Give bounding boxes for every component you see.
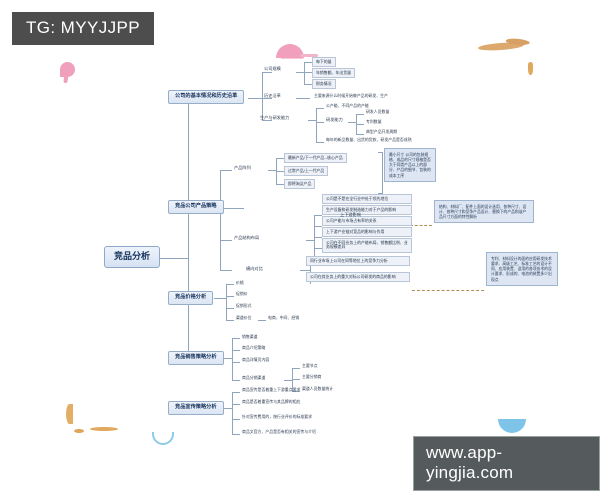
- connector: [226, 320, 234, 321]
- connector: [316, 142, 324, 143]
- leaf-node[interactable]: 渠道人员数量统计: [300, 386, 335, 392]
- connector: [232, 208, 244, 209]
- leaf-node[interactable]: 公司在不同业务上的产能布局、销售额比例、业务规模差异: [322, 238, 412, 253]
- decorative-blob-gold: [478, 41, 524, 51]
- connector: [314, 226, 322, 227]
- leaf-node[interactable]: 同行业市场上公司在同等地位上的竞争力分析: [306, 256, 410, 266]
- connector: [220, 170, 232, 171]
- connector: [226, 296, 234, 297]
- leaf-node[interactable]: 主要分销商: [300, 374, 323, 380]
- connector: [316, 108, 317, 142]
- connector: [258, 320, 266, 321]
- connector: [314, 215, 322, 216]
- connector: [356, 134, 364, 135]
- leaf-node[interactable]: 上下游产业链对竞品的影响与作用: [322, 227, 412, 237]
- leaf-node[interactable]: 商品介绍策略: [240, 345, 267, 351]
- root-node[interactable]: 竞品分析: [104, 246, 160, 268]
- leaf-node[interactable]: 即将淘汰产品: [284, 179, 315, 189]
- watermark: www.app-yingjia.com: [413, 436, 600, 491]
- leaf-node[interactable]: 生产设备和研发制造能力对于产品的影响: [322, 205, 412, 215]
- connector: [188, 98, 189, 358]
- connector: [268, 170, 276, 171]
- leaf-node[interactable]: 销售渠道: [240, 334, 260, 340]
- connector: [232, 392, 233, 434]
- sub-node-product-structure[interactable]: 产品结构布局: [232, 235, 261, 242]
- decorative-blob-gold: [74, 429, 84, 433]
- connector: [348, 122, 356, 123]
- leaf-node[interactable]: 商品宣传是否着重上下游重点要求: [240, 387, 302, 393]
- connector: [232, 434, 240, 435]
- connector: [276, 184, 284, 185]
- leaf-node[interactable]: 公司是不是在全行业中处于领先地位: [322, 194, 412, 204]
- leaf-node[interactable]: 商品详情页内容: [240, 357, 271, 363]
- connector: [356, 114, 364, 115]
- connector: [220, 170, 221, 270]
- leaf-node[interactable]: 每下的量: [312, 57, 336, 67]
- connector: [232, 380, 240, 381]
- connector: [296, 72, 304, 73]
- connector: [306, 240, 314, 241]
- leaf-node[interactable]: 专利数量: [364, 119, 384, 125]
- connector: [304, 72, 312, 73]
- leaf-node[interactable]: 商品是否着重宣传与其品牌的相应: [240, 399, 302, 405]
- leaf-node-channel-price[interactable]: 渠道价位: [234, 315, 254, 321]
- connector: [356, 124, 364, 125]
- leaf-node[interactable]: 公司在其业务上的重大对标公司研发的商品的影响: [306, 272, 410, 282]
- note-connector: [410, 225, 432, 226]
- decorative-blob-pink: [276, 44, 304, 58]
- decorative-blob-pink: [60, 62, 75, 77]
- connector: [276, 158, 284, 159]
- connector: [220, 240, 232, 241]
- connector: [308, 120, 316, 121]
- connector: [316, 122, 324, 123]
- connector: [226, 284, 227, 320]
- leaf-node[interactable]: 促销形式: [234, 303, 254, 309]
- leaf-node[interactable]: 价格: [234, 280, 246, 286]
- connector: [232, 392, 240, 393]
- connector: [304, 84, 312, 85]
- connector: [284, 380, 292, 381]
- leaf-node[interactable]: 电商、中间、经销: [266, 315, 301, 321]
- connector: [232, 338, 233, 380]
- leaf-node[interactable]: 商品文官方、产品是否有相关的宣传与介绍: [240, 429, 318, 435]
- branch-node-sales-strategy[interactable]: 竞品销售策略分析: [168, 351, 224, 365]
- connector: [316, 108, 324, 109]
- tg-label: TG: MYYJJPP: [12, 12, 154, 45]
- connector: [232, 338, 240, 339]
- branch-node-product-strategy[interactable]: 竞品公司产品策略: [168, 200, 224, 214]
- connector: [314, 248, 322, 249]
- note-connector: [412, 290, 484, 291]
- connector: [232, 404, 240, 405]
- sub-node-production-rnd[interactable]: 生产与研发能力: [258, 115, 291, 122]
- connector: [232, 350, 240, 351]
- connector: [292, 368, 300, 369]
- decorative-blob-blue: [498, 419, 526, 433]
- connector: [220, 270, 232, 271]
- leaf-node[interactable]: 主要节点: [300, 363, 320, 369]
- bracket: [378, 152, 383, 194]
- connector: [304, 62, 305, 84]
- sub-node-horizontal-compare[interactable]: 横向对比: [244, 266, 265, 273]
- leaf-node[interactable]: 最新产品/下一代产品--核心产品: [284, 153, 347, 163]
- leaf-node[interactable]: 针对宣传费用的，按行业评价的标准要求: [240, 414, 314, 420]
- note-product-feature[interactable]: 最小尺寸 公司的包装规格、成品的尺寸规格是否大于同类产品以上的部分、产品的细节、…: [384, 148, 436, 182]
- decorative-blob-gold: [528, 62, 533, 75]
- leaf-node[interactable]: 财务情况: [312, 79, 336, 89]
- mindmap-canvas: 竞品分析 公司的基本情况和历史沿革 公司规模 每下的量 年销售额、年出货量 财务…: [0, 0, 600, 480]
- leaf-node-distribution[interactable]: 商品分销渠道: [240, 375, 267, 381]
- sub-node-company-scale[interactable]: 公司规模: [262, 66, 283, 73]
- leaf-node[interactable]: 研发人员数量: [364, 109, 391, 115]
- leaf-node[interactable]: 典型产品开发周期: [364, 129, 399, 135]
- connector: [304, 62, 312, 63]
- branch-node-price-analysis[interactable]: 竞品价格分析: [168, 291, 213, 305]
- branch-node-company-profile[interactable]: 公司的基本情况和历史沿革: [168, 90, 244, 104]
- branch-node-promotion-strategy[interactable]: 竞品宣传策略分析: [168, 401, 224, 415]
- connector: [226, 308, 234, 309]
- leaf-node[interactable]: 过常产品/上一代产品: [284, 166, 328, 176]
- connector: [226, 284, 234, 285]
- note-market[interactable]: 专利、材料设计的面的应用研发技术要求、高级工艺、标准工艺的设计不同、应用装置、适…: [486, 252, 558, 286]
- decorative-blob-blue: [152, 432, 174, 445]
- leaf-node[interactable]: 每年的新品数量、出货的货款、研发产品是否成熟: [324, 137, 414, 143]
- connector: [248, 98, 262, 99]
- leaf-node[interactable]: 公司产能与市场占有率的关系: [322, 216, 412, 226]
- connector: [232, 362, 240, 363]
- connector: [160, 258, 188, 259]
- leaf-node[interactable]: 主要来源什么时候开始做产品的研发、生产: [312, 93, 390, 99]
- connector: [276, 171, 284, 172]
- decorative-blob-gold: [90, 427, 118, 431]
- connector: [214, 298, 226, 299]
- sub-node-rnd-capability[interactable]: 研发能力: [324, 117, 345, 124]
- connector: [232, 419, 240, 420]
- leaf-node[interactable]: 促销价: [234, 291, 250, 297]
- connector: [300, 270, 310, 271]
- connector: [314, 237, 322, 238]
- sub-node-product-matrix[interactable]: 产品阵列: [232, 165, 253, 172]
- sub-node-upstream-downstream-label[interactable]: 上下游影响: [338, 212, 363, 219]
- note-design[interactable]: 结构、材料厂、配件上面的设计选用、各种尺寸、设计、各种尺寸和竞争产品设计、替换下…: [434, 200, 534, 223]
- leaf-node[interactable]: 年销售额、年出货量: [312, 68, 355, 78]
- sub-node-history[interactable]: 历史沿革: [262, 93, 283, 100]
- connector: [296, 98, 310, 99]
- connector: [292, 379, 300, 380]
- decorative-blob-gold: [66, 404, 73, 424]
